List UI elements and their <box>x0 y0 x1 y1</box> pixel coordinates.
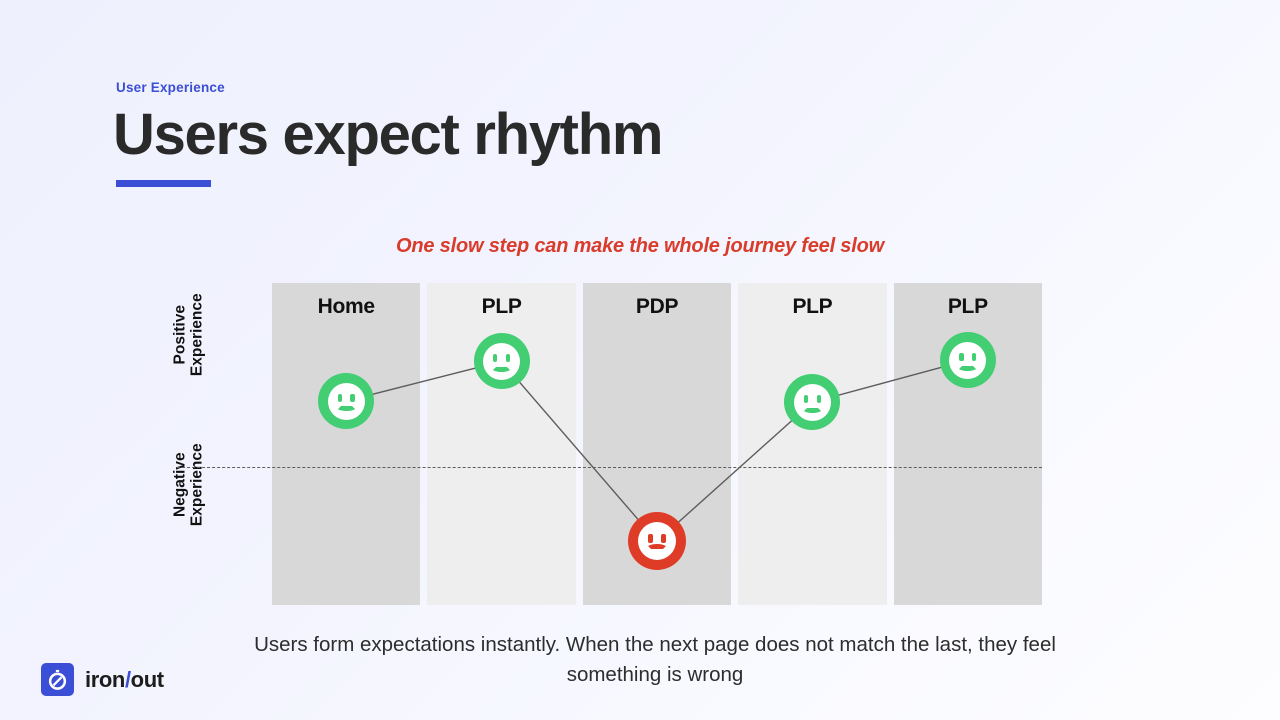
axis-label-positive-line2: Experience <box>189 260 206 410</box>
happy-face-icon <box>318 373 374 429</box>
eye-right <box>972 353 976 362</box>
axis-label-negative-line1: Negative <box>172 410 189 560</box>
eye-left <box>338 394 342 403</box>
chart-subtitle: One slow step can make the whole journey… <box>0 235 1280 258</box>
accent-bar <box>116 180 211 187</box>
logo-text-part2: out <box>131 667 164 692</box>
eye-left <box>648 534 652 543</box>
eye-left <box>804 395 808 404</box>
page-title: Users expect rhythm <box>113 103 662 167</box>
eye-right <box>350 394 354 403</box>
face-disc <box>483 343 520 380</box>
axis-label-positive: Positive Experience <box>172 260 205 410</box>
eye-right <box>506 354 510 363</box>
eye-right <box>661 534 665 543</box>
logo-text-part1: iron <box>85 667 125 692</box>
smile-mouth <box>491 362 512 372</box>
sad-face-icon <box>628 512 686 570</box>
eye-left <box>493 354 497 363</box>
caption-text: Users form expectations instantly. When … <box>250 630 1060 690</box>
face-disc <box>638 522 676 560</box>
axis-label-negative: Negative Experience <box>172 410 205 560</box>
smile-mouth <box>336 402 357 412</box>
eye-left <box>959 353 963 362</box>
stopwatch-icon <box>41 663 74 696</box>
smile-mouth <box>957 361 978 371</box>
smile-mouth <box>802 403 823 413</box>
happy-face-icon <box>940 332 996 388</box>
eye-right <box>817 395 821 404</box>
axis-label-negative-line2: Experience <box>189 410 206 560</box>
face-disc <box>328 383 365 420</box>
brand-logo: iron/out <box>41 663 164 696</box>
face-disc <box>794 384 831 421</box>
frown-mouth <box>646 544 667 554</box>
axis-label-positive-line1: Positive <box>172 260 189 410</box>
eyebrow-label: User Experience <box>116 80 225 95</box>
happy-face-icon <box>474 333 530 389</box>
logo-wordmark: iron/out <box>85 667 164 693</box>
face-disc <box>949 342 986 379</box>
